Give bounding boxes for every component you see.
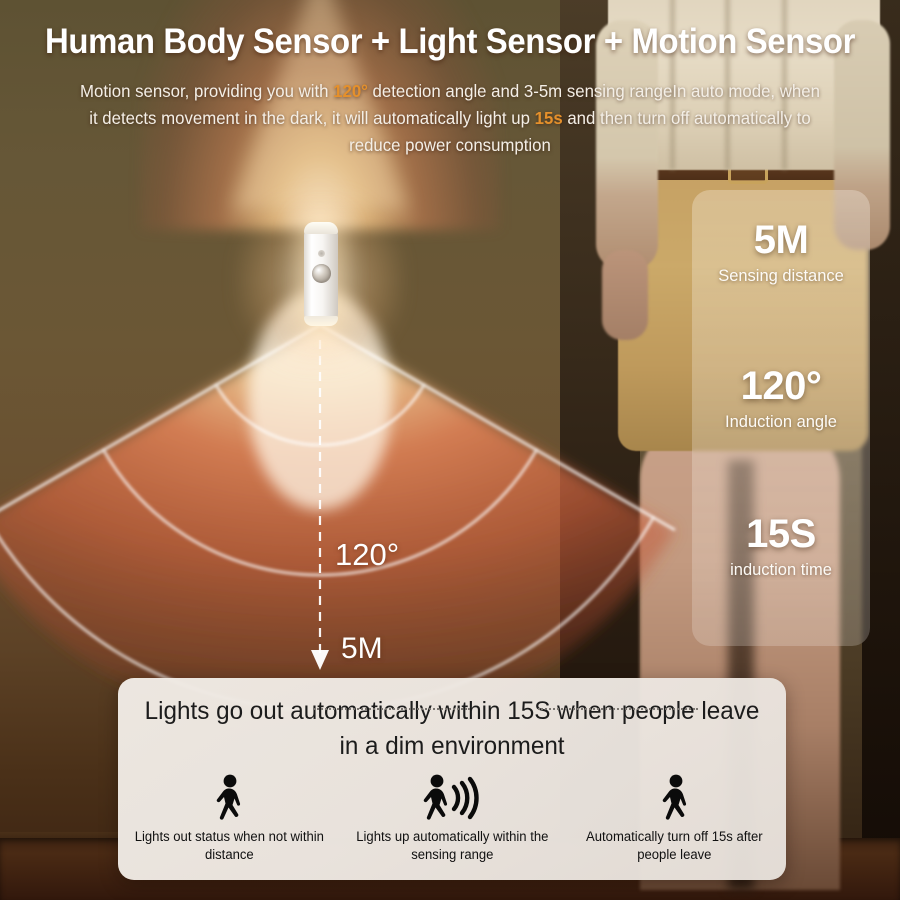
device-top-cap [304,222,338,234]
stats-panel: 5M Sensing distance 120° Induction angle… [692,190,870,646]
page-subtitle: Motion sensor, providing you with 120° d… [78,78,823,159]
connector-dots [314,708,470,710]
card-column-lights-up: Lights up automatically within the sensi… [341,772,564,878]
stat-value: 120° [692,362,870,410]
walking-person-signal-icon [421,774,483,826]
card-column-caption: Lights out status when not within distan… [121,828,337,864]
cone-angle-label: 120° [335,537,399,573]
stat-sensing-distance: 5M Sensing distance [692,216,870,288]
icon-row [209,772,249,828]
subtitle-text-1: Motion sensor, providing you with [80,81,333,101]
cone-distance-label: 5M [341,632,383,666]
icon-row [655,772,695,828]
icon-row [421,772,483,828]
pir-dome-lens-icon [312,264,331,283]
product-marketing-image: 120° 5M Human Body Sensor + Light Sensor… [0,0,900,900]
card-column-caption: Lights up automatically within the sensi… [344,828,560,864]
person-hand [602,250,648,340]
stat-induction-angle: 120° Induction angle [692,362,870,434]
card-columns: Lights out status when not within distan… [118,772,786,878]
stat-label: Sensing distance [695,264,868,288]
walking-person-icon [209,774,249,826]
walking-person-icon [655,774,695,826]
subtitle-highlight-angle: 120° [333,81,368,101]
device-logo-icon [318,250,325,257]
device-bottom-cap [304,316,338,326]
motion-sensor-light-device[interactable] [304,222,338,326]
stat-value: 5M [692,216,870,264]
stat-value: 15S [692,510,870,558]
card-column-lights-out: Lights out status when not within distan… [118,772,341,878]
stat-label: Induction angle [695,410,868,434]
stat-induction-time: 15S induction time [692,510,870,582]
stat-label: induction time [695,558,868,582]
card-column-auto-off: Automatically turn off 15s after people … [563,772,786,878]
subtitle-highlight-time: 15s [535,108,563,128]
card-heading: Lights go out automatically within 15S w… [142,694,763,764]
connector-dots [538,708,698,710]
bottom-info-card: Lights go out automatically within 15S w… [118,678,786,880]
page-title: Human Body Sensor + Light Sensor + Motio… [27,22,873,62]
card-column-caption: Automatically turn off 15s after people … [567,828,783,864]
